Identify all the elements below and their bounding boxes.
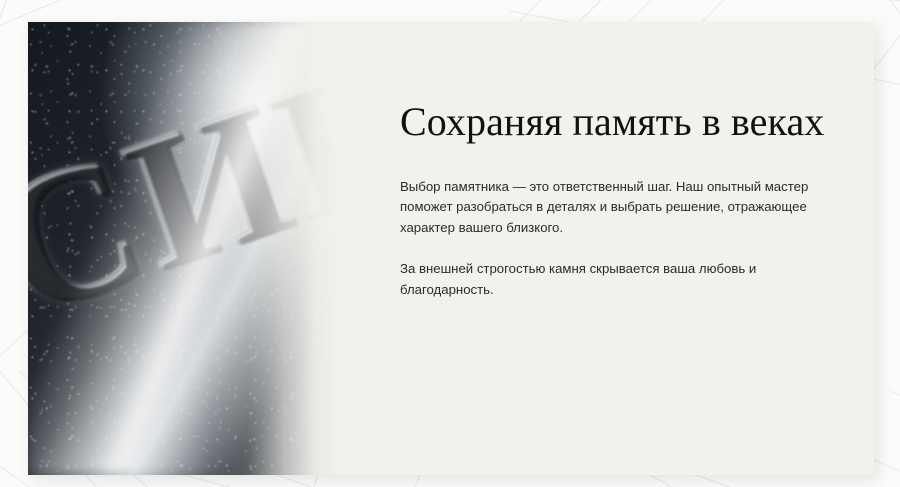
hero-media: СИШ <box>28 22 338 475</box>
hero-paragraph-2: За внешней строгостью камня скрывается в… <box>400 259 824 300</box>
hero-card: СИШ Сохраняя память в веках Выбор памятн… <box>28 22 874 475</box>
hero-paragraph-1: Выбор памятника — это ответственный шаг.… <box>400 177 824 238</box>
media-fade-to-panel <box>208 22 338 475</box>
hero-content: Сохраняя память в веках Выбор памятника … <box>338 22 874 475</box>
page-title: Сохраняя память в веках <box>400 100 824 145</box>
